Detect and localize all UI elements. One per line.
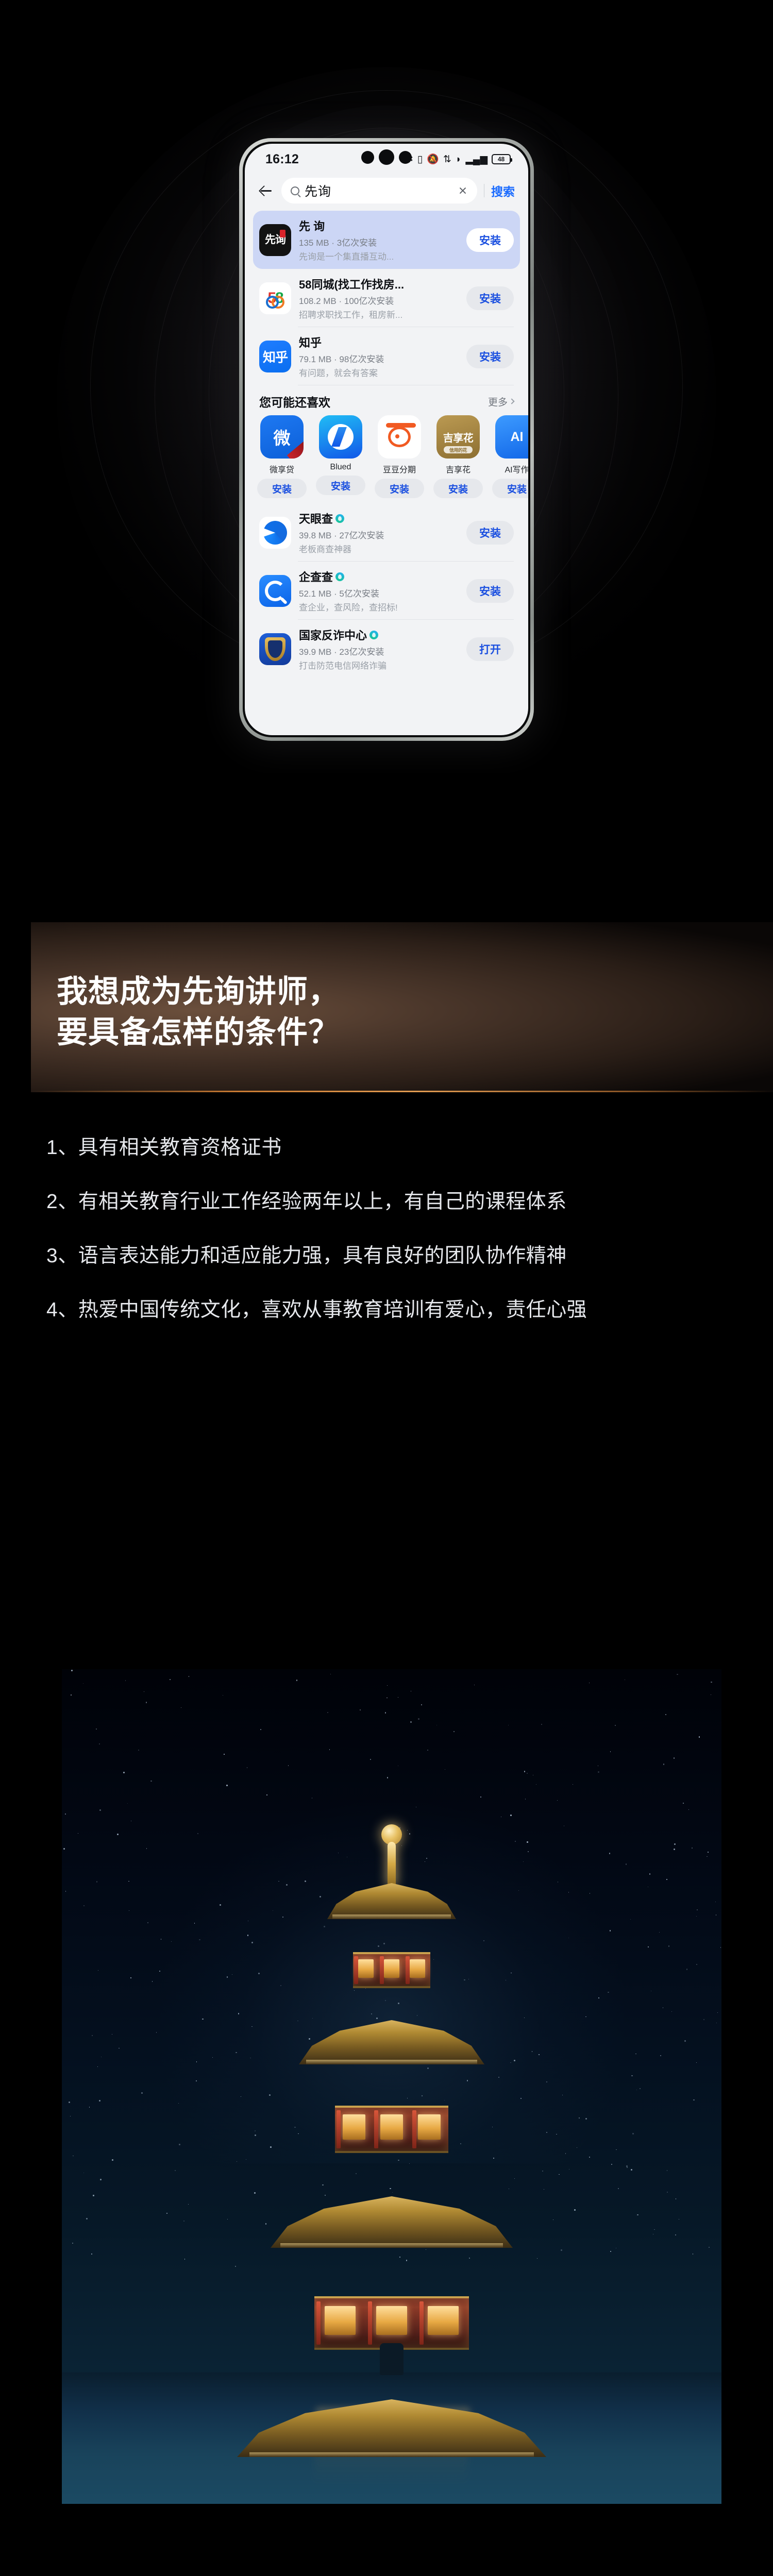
install-button[interactable]: 安装 xyxy=(466,345,514,368)
install-button[interactable]: 安装 xyxy=(375,479,424,498)
requirement-item: 2、有相关教育行业工作经验两年以上，有自己的课程体系 xyxy=(46,1188,665,1217)
app-meta-line: 79.1 MB · 98亿次安装 xyxy=(299,352,459,365)
app-description: 老板商查神器 xyxy=(299,542,459,555)
requirements-list: 1、具有相关教育资格证书 2、有相关教育行业工作经验两年以上，有自己的课程体系 … xyxy=(46,1133,665,1350)
app-list-item[interactable]: 国家反诈中心 39.9 MB · 23亿次安装 打击防范电信网络诈骗 打开 xyxy=(253,620,520,678)
recommend-more-button[interactable]: 更多 xyxy=(488,395,514,409)
grid-app-name: Blued xyxy=(316,463,365,472)
app-description: 先询是一个集直播互动... xyxy=(299,249,459,262)
app-meta-line: 108.2 MB · 100亿次安装 xyxy=(299,294,459,307)
battery-icon: 48 xyxy=(492,154,511,164)
chevron-right-icon xyxy=(509,398,514,404)
status-icons: ✱ ▯ 🔕 ⇅ ◗ ▂▄▆ 48 xyxy=(405,154,511,164)
pagoda-tier-body xyxy=(353,1952,430,1988)
night-pagoda-photo xyxy=(62,1669,721,2504)
grid-app-name: AI写作 xyxy=(492,463,528,475)
grid-item[interactable]: Blued 安装 xyxy=(316,415,365,498)
search-bar: 先询 搜索 xyxy=(245,175,528,211)
search-results-list: 先询 先 询 135 MB · 3亿次安装 先询是一个集直播互动... 安装 5… xyxy=(245,211,528,385)
app-name-text: 国家反诈中心 xyxy=(299,626,367,643)
app-name-text: 天眼查 xyxy=(299,510,333,527)
fanzha-icon xyxy=(259,633,291,665)
app-name: 先 询 xyxy=(299,217,459,234)
mute-icon: 🔕 xyxy=(427,155,439,164)
search-results-list-2: 天眼查 39.8 MB · 27亿次安装 老板商查神器 安装 企查查 xyxy=(245,503,528,678)
app-info: 先 询 135 MB · 3亿次安装 先询是一个集直播互动... xyxy=(299,217,459,262)
weixiangdai-icon: 微 xyxy=(260,415,304,459)
camera-lens-icon xyxy=(361,151,374,164)
clear-icon[interactable] xyxy=(457,184,469,197)
app-name: 知乎 xyxy=(299,334,459,350)
pagoda-roof xyxy=(327,1883,456,1919)
title-line-2: 要具备怎样的条件？ xyxy=(57,1012,675,1053)
phone-device-mockup: 16:12 ✱ ▯ 🔕 ⇅ ◗ ▂▄▆ 48 xyxy=(239,138,534,741)
grid-app-name: 微享贷 xyxy=(257,463,307,475)
requirements-section: 我想成为先询讲师， 要具备怎样的条件？ 1、具有相关教育资格证书 2、有相关教育… xyxy=(0,773,773,1633)
aixiezuo-icon: AI xyxy=(495,415,528,459)
app-name: 天眼查 xyxy=(299,510,459,527)
pagoda-building xyxy=(113,1806,670,2393)
search-divider xyxy=(484,184,484,197)
install-button[interactable]: 安装 xyxy=(316,476,365,495)
verified-badge-icon xyxy=(335,572,344,581)
camera-lens-icon xyxy=(379,149,394,165)
search-button[interactable]: 搜索 xyxy=(491,182,515,199)
jixianghua-icon: 吉享花信用的花 xyxy=(436,415,480,459)
recommend-more-label: 更多 xyxy=(488,395,508,409)
app-description: 有问题，就会有答案 xyxy=(299,366,459,379)
verified-badge-icon xyxy=(369,631,378,639)
title-line-1: 我想成为先询讲师， xyxy=(57,971,675,1012)
blued-icon xyxy=(319,415,362,459)
install-button[interactable]: 安装 xyxy=(466,286,514,310)
pagoda-spire xyxy=(388,1842,396,1886)
requirement-item: 4、热爱中国传统文化，喜欢从事教育培训有爱心，责任心强 xyxy=(46,1296,665,1325)
zhihu-icon: 知乎 xyxy=(259,341,291,372)
app-name: 国家反诈中心 xyxy=(299,626,459,643)
app-list-item[interactable]: 企查查 52.1 MB · 5亿次安装 查企业，查风险，查招标! 安装 xyxy=(253,562,520,620)
search-query-value: 先询 xyxy=(305,181,451,200)
install-button[interactable]: 安装 xyxy=(433,479,483,498)
recommend-grid: 微 微享贷 安装 Blued 安装 豆豆分期 安装 吉享花信用的花 吉享花 xyxy=(245,414,528,503)
app-info: 国家反诈中心 39.9 MB · 23亿次安装 打击防范电信网络诈骗 xyxy=(299,626,459,671)
pagoda-tier-body xyxy=(335,2106,448,2153)
grid-app-name: 吉享花 xyxy=(433,463,483,475)
wifi-icon: ◗ xyxy=(456,155,461,164)
status-bar: 16:12 ✱ ▯ 🔕 ⇅ ◗ ▂▄▆ 48 xyxy=(245,144,528,175)
vibrate-icon: ▯ xyxy=(417,155,423,164)
open-button[interactable]: 打开 xyxy=(466,637,514,661)
grid-item[interactable]: 豆豆分期 安装 xyxy=(375,415,424,498)
app-list-item[interactable]: 58 58同城(找工作找房... 108.2 MB · 100亿次安装 招聘求职… xyxy=(253,269,520,327)
back-arrow-icon[interactable] xyxy=(256,181,275,200)
app-description: 查企业，查风险，查招标! xyxy=(299,600,459,613)
app-list-item-featured[interactable]: 先询 先 询 135 MB · 3亿次安装 先询是一个集直播互动... 安装 xyxy=(253,211,520,269)
app-name: 企查查 xyxy=(299,568,459,585)
data-transfer-icon: ⇅ xyxy=(443,155,451,164)
app-name-text: 企查查 xyxy=(299,568,333,585)
verified-badge-icon xyxy=(335,514,344,523)
recommend-title: 您可能还喜欢 xyxy=(259,393,330,410)
phone-hero-section: 16:12 ✱ ▯ 🔕 ⇅ ◗ ▂▄▆ 48 xyxy=(0,0,773,773)
tianyancha-icon xyxy=(259,517,291,549)
app-description: 打击防范电信网络诈骗 xyxy=(299,658,459,671)
app-info: 58同城(找工作找房... 108.2 MB · 100亿次安装 招聘求职找工作… xyxy=(299,276,459,320)
xunxun-icon: 先询 xyxy=(259,224,291,256)
foreground-urn xyxy=(380,2343,404,2375)
app-name: 58同城(找工作找房... xyxy=(299,276,459,292)
status-time: 16:12 xyxy=(265,152,299,167)
app-list-item[interactable]: 知乎 知乎 79.1 MB · 98亿次安装 有问题，就会有答案 安装 xyxy=(253,327,520,385)
camera-cutout xyxy=(361,149,412,165)
qichacha-icon xyxy=(259,575,291,607)
install-button[interactable]: 安装 xyxy=(492,479,528,498)
search-icon xyxy=(291,187,299,195)
camera-lens-icon xyxy=(399,151,412,164)
requirement-item: 1、具有相关教育资格证书 xyxy=(46,1133,665,1163)
app-description: 招聘求职找工作，租房新... xyxy=(299,308,459,320)
pagoda-roof xyxy=(271,2196,513,2248)
pagoda-tier-body xyxy=(314,2296,469,2350)
grid-item[interactable]: 吉享花信用的花 吉享花 安装 xyxy=(433,415,483,498)
pagoda-roof xyxy=(299,2020,484,2064)
search-input[interactable]: 先询 xyxy=(281,178,477,204)
install-button[interactable]: 安装 xyxy=(466,228,514,252)
install-button[interactable]: 安装 xyxy=(257,479,307,498)
grid-item[interactable]: 微 微享贷 安装 xyxy=(257,415,307,498)
phone-bezel: 16:12 ✱ ▯ 🔕 ⇅ ◗ ▂▄▆ 48 xyxy=(243,142,530,737)
app-meta-line: 39.8 MB · 27亿次安装 xyxy=(299,528,459,541)
app-info: 知乎 79.1 MB · 98亿次安装 有问题，就会有答案 xyxy=(299,334,459,379)
requirement-item: 3、语言表达能力和适应能力强，具有良好的团队协作精神 xyxy=(46,1242,665,1271)
app-meta-line: 39.9 MB · 23亿次安装 xyxy=(299,645,459,657)
install-button[interactable]: 安装 xyxy=(466,579,514,603)
grid-item[interactable]: AI AI写作 安装 xyxy=(492,415,528,498)
app-info: 企查查 52.1 MB · 5亿次安装 查企业，查风险，查招标! xyxy=(299,568,459,613)
page-title: 我想成为先询讲师， 要具备怎样的条件？ xyxy=(57,971,675,1053)
app-meta-line: 135 MB · 3亿次安装 xyxy=(299,235,459,248)
app-meta-line: 52.1 MB · 5亿次安装 xyxy=(299,586,459,599)
58tongcheng-icon: 58 xyxy=(259,282,291,314)
phone-screen: 16:12 ✱ ▯ 🔕 ⇅ ◗ ▂▄▆ 48 xyxy=(245,144,528,735)
recommend-header: 您可能还喜欢 更多 xyxy=(245,385,528,414)
battery-level: 48 xyxy=(498,156,505,163)
app-list-item[interactable]: 天眼查 39.8 MB · 27亿次安装 老板商查神器 安装 xyxy=(253,503,520,562)
signal-icon: ▂▄▆ xyxy=(465,155,488,164)
doudoufenqi-icon xyxy=(378,415,421,459)
app-info: 天眼查 39.8 MB · 27亿次安装 老板商查神器 xyxy=(299,510,459,555)
grid-app-name: 豆豆分期 xyxy=(375,463,424,475)
install-button[interactable]: 安装 xyxy=(466,521,514,545)
